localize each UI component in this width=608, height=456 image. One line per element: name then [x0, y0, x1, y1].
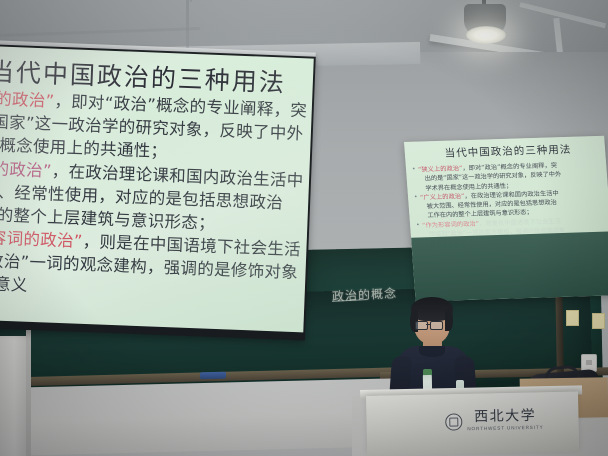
secondary-bullet-3-key: “作为形容词的政治”	[422, 220, 479, 229]
secondary-bullet-1-key: “狭义上的政治”	[418, 165, 463, 173]
secondary-bullet-2-rest: ，在政治理论课和国内政治生活中	[464, 190, 559, 200]
secondary-screen-dark-overlay	[411, 231, 608, 301]
screen-hanger	[190, 0, 192, 2]
university-seal-icon	[445, 413, 462, 430]
secondary-bullet-2-key: “广义上的政治”	[420, 193, 465, 201]
lamp-bulb-glow-icon	[466, 26, 506, 44]
water-bottle-cap	[423, 369, 432, 375]
main-slide-content: 当代中国政治的三种用法 “狭义上的政治”，即对“政治”概念的专业阐释，突 出的是…	[0, 54, 314, 308]
lecturer-collar	[419, 346, 445, 357]
glasses-bridge	[426, 324, 430, 325]
university-name-cn: 西北大学	[474, 409, 536, 424]
door-edge	[26, 330, 31, 456]
wall-vertical-seam	[186, 0, 189, 50]
wall-notice	[566, 310, 579, 326]
main-slide-key-3: “作为形容词的政治”	[0, 226, 83, 251]
lecturer-hair-side-right	[445, 309, 453, 331]
glasses-icon	[415, 321, 428, 330]
wall-notice	[592, 313, 605, 329]
secondary-projection-screen: 当代中国政治的三种用法 “狭义上的政治”，即对“政治”概念的专业阐释，突 出的是…	[404, 136, 608, 302]
university-name-block: 西北大学 NORTHWEST UNIVERSITY	[467, 409, 544, 432]
secondary-bullet-3-rest: ，则是在中国语境下社会生活	[479, 218, 561, 228]
blackboard-eraser[interactable]	[200, 372, 226, 380]
university-name-en: NORTHWEST UNIVERSITY	[467, 426, 543, 432]
glasses-icon	[430, 321, 443, 330]
podium-nameplate: 西北大学 NORTHWEST UNIVERSITY	[432, 405, 557, 436]
main-slide-key-2: “广义上的政治”	[0, 157, 52, 181]
main-projection-screen: 当代中国政治的三种用法 “狭义上的政治”，即对“政治”概念的专业阐释，突 出的是…	[0, 46, 314, 332]
secondary-bullet-1-rest: ，即对“政治”概念的专业阐释，突	[462, 162, 557, 172]
main-slide-key-1: “狭义上的政治”	[0, 87, 55, 111]
secondary-slide-title: 当代中国政治的三种用法	[410, 141, 605, 162]
lecture-hall-photo: 政治的概念 概念 当代中国政治的三种用法 “狭义上的政治”，即对“政治”概念的专…	[0, 0, 608, 456]
